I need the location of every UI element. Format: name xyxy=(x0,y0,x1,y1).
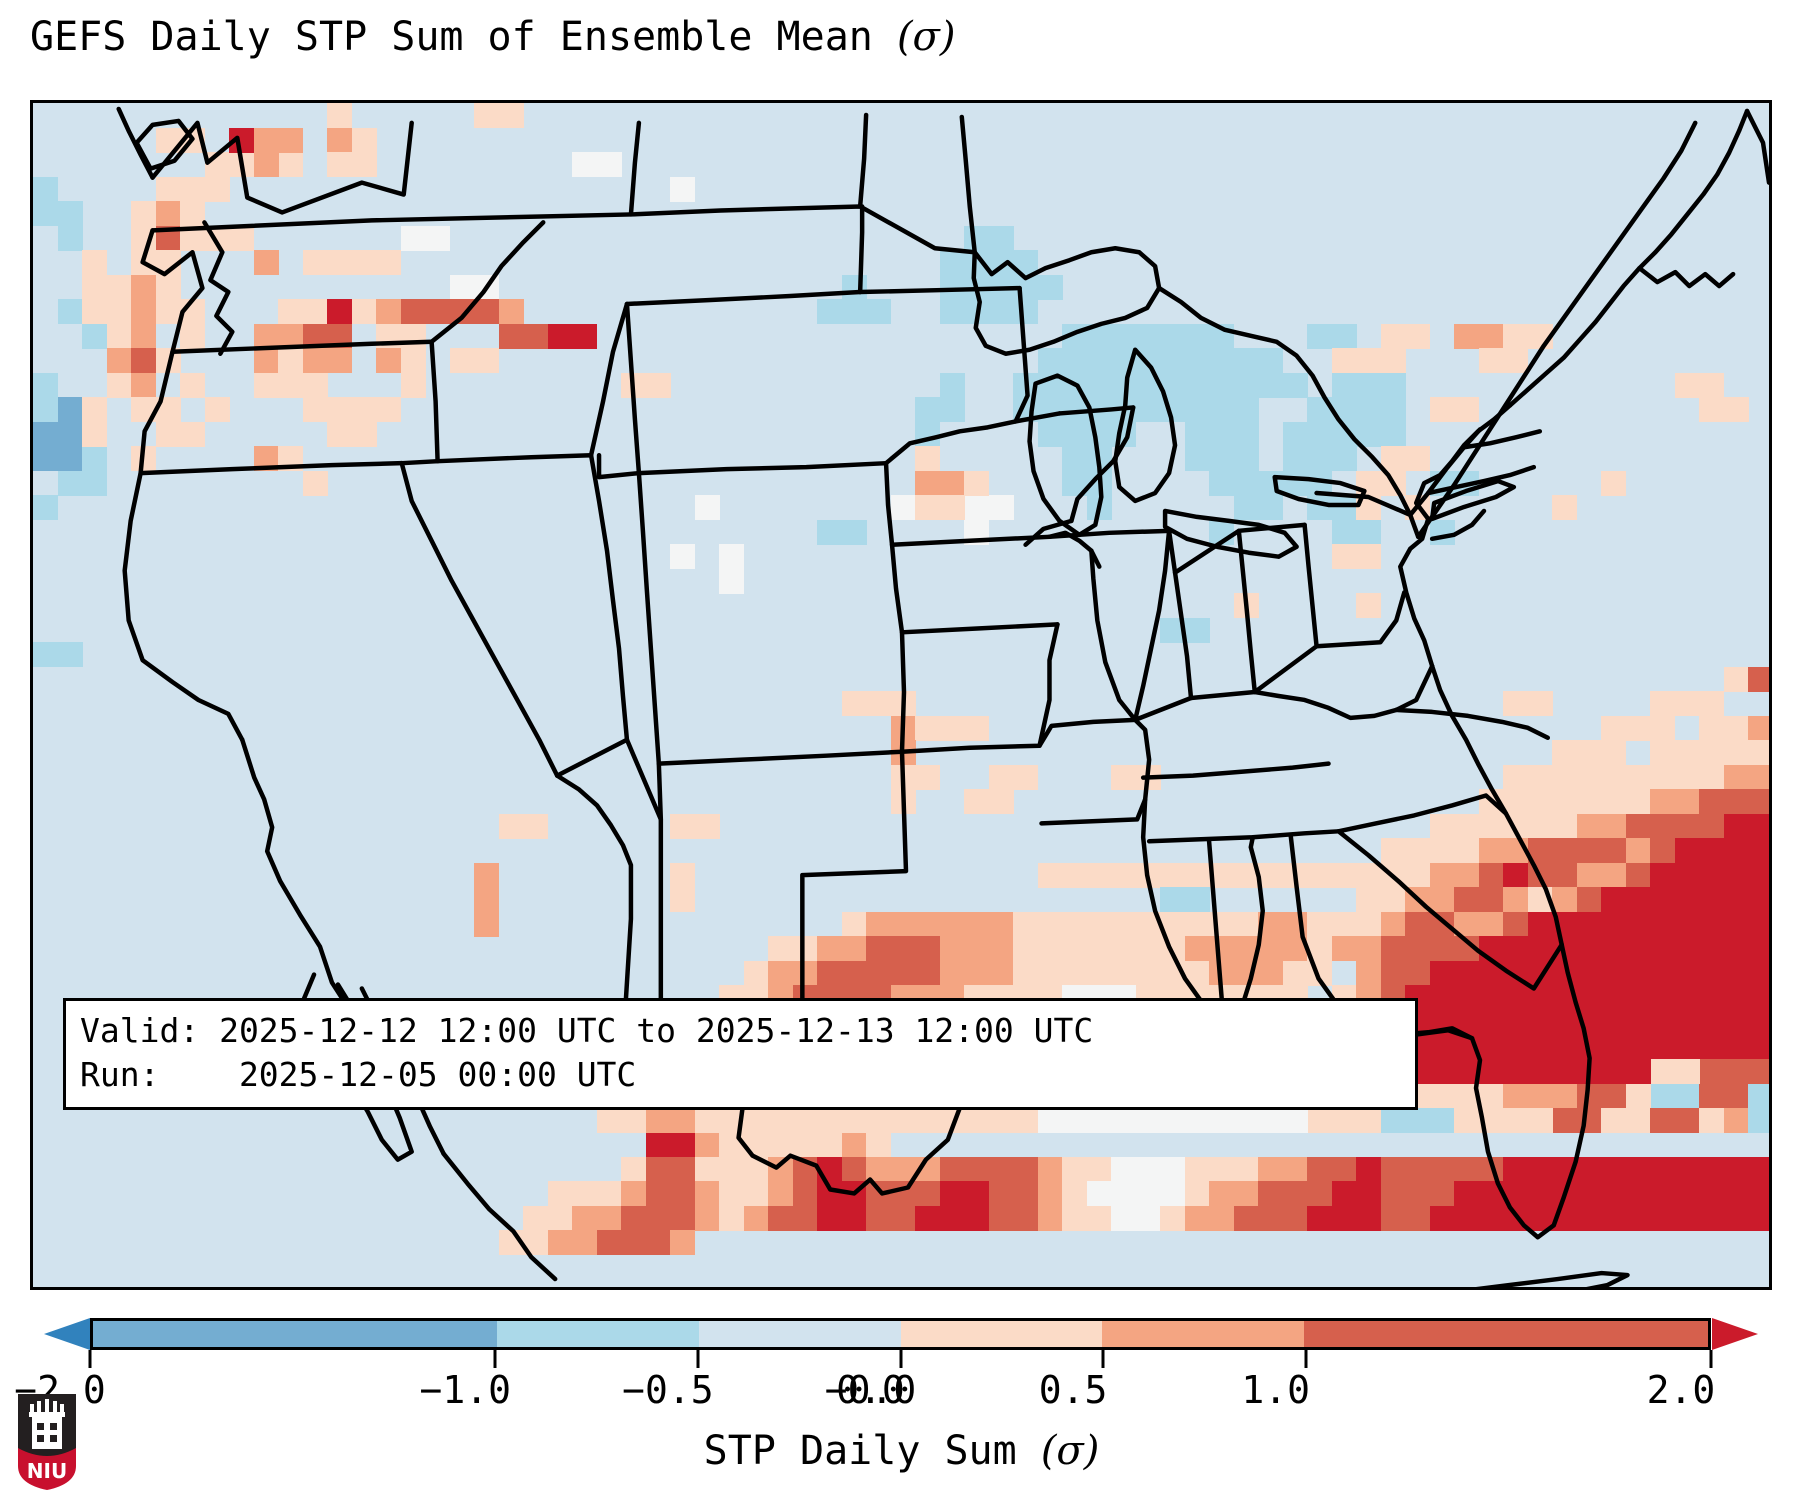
info-line-valid: Valid: 2025-12-12 12:00 UTC to 2025-12-1… xyxy=(80,1011,1093,1050)
page-title: GEFS Daily STP Sum of Ensemble Mean (σ) xyxy=(30,14,955,60)
colorbar-tick-1 xyxy=(494,1350,497,1368)
colorbar-over-arrow xyxy=(1712,1318,1758,1350)
page-title-text: GEFS Daily STP Sum of Ensemble Mean xyxy=(30,14,897,60)
map-panel[interactable]: Valid: 2025-12-12 12:00 UTC to 2025-12-1… xyxy=(30,100,1772,1290)
colorbar-axis-label: STP Daily Sum (σ) xyxy=(0,1428,1803,1474)
colorbar[interactable] xyxy=(30,1318,1772,1352)
colorbar-band-6 xyxy=(1304,1321,1708,1347)
colorbar-tick-4 xyxy=(899,1350,902,1368)
sigma-symbol-axis: (σ) xyxy=(1041,1428,1100,1474)
colorbar-under-arrow xyxy=(44,1318,90,1350)
info-line-run: Run: 2025-12-05 00:00 UTC xyxy=(80,1055,636,1094)
colorbar-tick-2 xyxy=(696,1350,699,1368)
colorbar-band-1 xyxy=(497,1321,699,1347)
colorbar-band-0 xyxy=(93,1321,497,1347)
annotation-layer: Valid: 2025-12-12 12:00 UTC to 2025-12-1… xyxy=(33,103,1769,1287)
sigma-symbol: (σ) xyxy=(897,14,956,60)
colorbar-tick-5 xyxy=(1102,1350,1105,1368)
colorbar-tick-6 xyxy=(1304,1350,1307,1368)
colorbar-tick-label-7: 2.0 xyxy=(1647,1368,1716,1412)
colorbar-band-2 xyxy=(699,1321,901,1347)
colorbar-tick-7 xyxy=(1710,1350,1713,1368)
colorbar-bands[interactable] xyxy=(90,1318,1711,1350)
colorbar-axis-label-text: STP Daily Sum xyxy=(704,1428,1041,1474)
colorbar-tick-label-4: 0.0 xyxy=(836,1368,905,1412)
colorbar-tick-label-6: 1.0 xyxy=(1241,1368,1310,1412)
colorbar-tick-labels: −2.0−1.0−0.5−0.00.00.51.02.0 xyxy=(60,1368,1681,1414)
colorbar-tick-label-1: −1.0 xyxy=(419,1368,511,1412)
colorbar-tick-label-2: −0.5 xyxy=(622,1368,714,1412)
colorbar-tick-0 xyxy=(89,1350,92,1368)
colorbar-tick-label-5: 0.5 xyxy=(1039,1368,1108,1412)
niu-logo: NIU xyxy=(16,1392,78,1492)
logo-text: NIU xyxy=(27,1459,67,1483)
info-box: Valid: 2025-12-12 12:00 UTC to 2025-12-1… xyxy=(63,998,1418,1110)
colorbar-band-5 xyxy=(1102,1321,1304,1347)
colorbar-band-4 xyxy=(901,1321,1103,1347)
